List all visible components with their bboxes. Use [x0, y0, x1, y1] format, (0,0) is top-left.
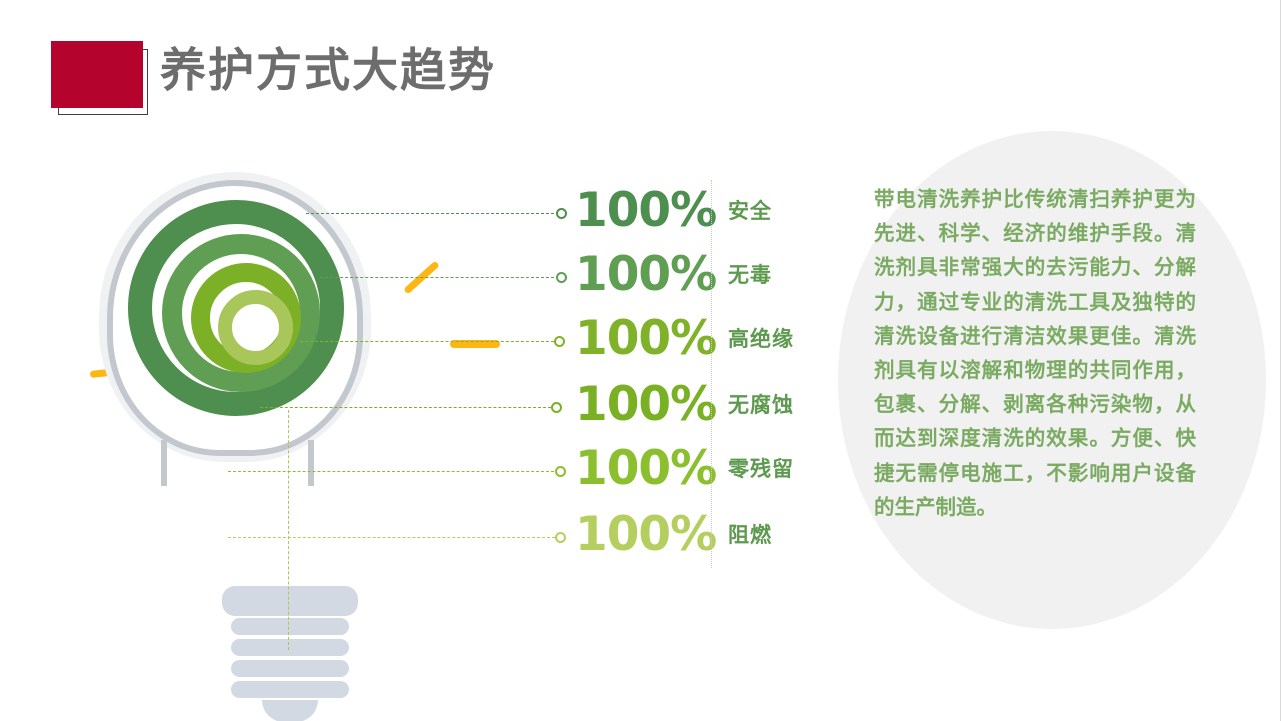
- stat-label: 高绝缘: [728, 325, 794, 353]
- stat-value: 100%: [575, 507, 708, 563]
- stat-label: 零残留: [728, 455, 794, 483]
- connector-marker: [554, 336, 565, 347]
- connector-line: [260, 407, 551, 408]
- stat-label: 无腐蚀: [728, 391, 794, 419]
- stat-value: 100%: [575, 377, 708, 433]
- connector-marker: [556, 272, 567, 283]
- bulb-base-bar: [231, 618, 349, 635]
- connector-line: [228, 537, 555, 538]
- title-red-square: [51, 41, 143, 108]
- bulb-neck-right: [308, 440, 314, 486]
- connector-marker: [555, 466, 566, 477]
- stat-label: 阻燃: [728, 521, 772, 549]
- bulb-base-bar: [231, 681, 349, 698]
- stat-row: 100%阻燃: [575, 507, 905, 573]
- bulb-base-tip: [262, 700, 318, 721]
- bulb-base-cap: [222, 586, 358, 616]
- stat-value: 100%: [575, 311, 708, 367]
- bulb-base-bar: [231, 639, 349, 656]
- bulb-ring-4: [218, 290, 293, 365]
- stat-value: 100%: [575, 247, 708, 303]
- connector-line: [306, 213, 554, 214]
- stat-label: 安全: [728, 197, 772, 225]
- info-panel-text: 带电清洗养护比传统清扫养护更为先进、科学、经济的维护手段。清洗剂具非常强大的去污…: [874, 182, 1196, 524]
- stat-value: 100%: [575, 441, 708, 497]
- bulb-neck-left: [161, 440, 167, 486]
- connector-marker: [556, 208, 567, 219]
- bulb-base-bar: [231, 660, 349, 677]
- page-title: 养护方式大趋势: [160, 39, 496, 101]
- connector-line: [228, 471, 554, 472]
- stat-value: 100%: [575, 183, 708, 239]
- connector-line: [320, 277, 554, 278]
- page-right-border: [1280, 0, 1281, 721]
- slide-canvas: 养护方式大趋势 100%安全100%无毒100%高绝缘100%无腐蚀100%零残…: [0, 0, 1283, 721]
- stat-label: 无毒: [728, 261, 772, 289]
- connector-marker: [555, 532, 566, 543]
- stat-row: 100%安全: [575, 183, 905, 249]
- bulb-vertical-guide: [288, 410, 289, 650]
- connector-line: [300, 341, 554, 342]
- connector-marker: [551, 402, 562, 413]
- light-bulb-infographic: [60, 110, 480, 590]
- stats-divider: [711, 180, 712, 568]
